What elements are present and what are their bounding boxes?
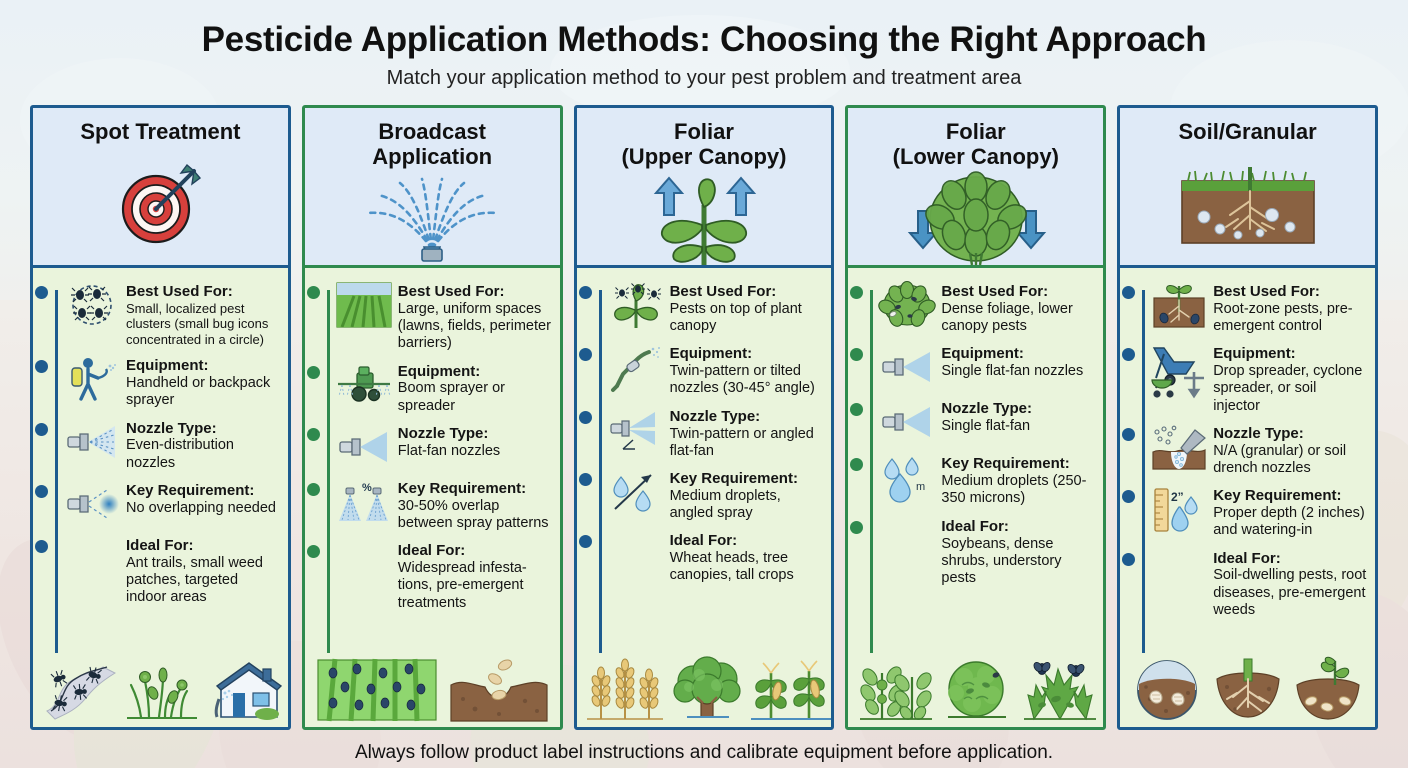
detail-label: Nozzle Type: xyxy=(398,425,552,443)
detail-label: Equipment: xyxy=(941,345,1095,363)
method-cards-row: Spot Treatment Best Used For:Small, loca… xyxy=(30,105,1378,730)
detail-value: Single flat-fan xyxy=(941,418,1095,435)
detail-value: Twin-pattern or tilted nozzles (30-45° a… xyxy=(670,363,824,398)
card-body: Best Used For:Dense foliage, lower canop… xyxy=(848,268,1103,727)
detail-text: Nozzle Type:Twin-pattern or angled flat-… xyxy=(670,407,824,460)
card-bottom-illustrations xyxy=(41,651,280,721)
card-title: Foliar (Upper Canopy) xyxy=(615,120,792,169)
detail-rows: Best Used For:Small, localized pest clus… xyxy=(41,282,280,616)
detail-text: Nozzle Type:Single flat-fan xyxy=(941,399,1095,435)
detail-text: Ideal For:Wheat heads, tree canopies, ta… xyxy=(670,531,824,584)
detail-rows: Best Used For:Pests on top of plant cano… xyxy=(585,282,824,594)
house-spray-icon xyxy=(203,659,283,721)
card-header: Foliar (Upper Canopy) xyxy=(577,108,832,268)
detail-value: N/A (granular) or soil drench nozzles xyxy=(1213,443,1367,478)
detail-value: Handheld or backpack sprayer xyxy=(126,375,280,410)
sprinkler-fan-spray-icon xyxy=(305,169,560,265)
detail-text: Key Requirement:Proper depth (2 inches) … xyxy=(1213,486,1367,539)
detail-text: Best Used For:Large, uniform spaces (law… xyxy=(398,282,552,353)
detail-value: Soybeans, dense shrubs, understory pests xyxy=(941,536,1095,588)
detail-label: Ideal For: xyxy=(941,518,1095,536)
timeline-dot xyxy=(35,540,48,553)
page-header: Pesticide Application Methods: Choosing … xyxy=(0,0,1408,100)
boom-sprayer-tractor-icon xyxy=(335,362,393,408)
detail-value: Soil-dwelling pests, root diseases, pre-… xyxy=(1213,567,1367,619)
detail-value: Twin-pattern or angled flat-fan xyxy=(670,426,824,461)
timeline-dot xyxy=(1122,490,1135,503)
ruler-two-inch-droplet-icon: 2” xyxy=(1150,486,1208,532)
detail-text: Equipment:Drop spreader, cyclone spreade… xyxy=(1213,344,1367,415)
svg-text:m: m xyxy=(916,481,925,493)
grub-in-soil-icon xyxy=(1132,659,1202,721)
card-header: Broadcast Application xyxy=(305,108,560,268)
card-header: Spot Treatment xyxy=(33,108,288,268)
root-disease-icon xyxy=(1213,659,1283,721)
detail-row: Equipment:Boom sprayer or spreader xyxy=(313,362,552,415)
detail-rows: Best Used For:Root-zone pests, pre-emerg… xyxy=(1128,282,1367,628)
card-bottom-illustrations xyxy=(585,651,824,721)
detail-text: Key Requirement:30-50% overlap between s… xyxy=(398,479,552,532)
detail-row: m Key Requirement:Medium droplets (250-3… xyxy=(856,454,1095,507)
detail-label: Ideal For: xyxy=(1213,550,1367,568)
seed-germination-icon xyxy=(1293,659,1363,721)
detail-row: Best Used For:Dense foliage, lower canop… xyxy=(856,282,1095,335)
bug-cluster-circle-icon xyxy=(63,282,121,328)
detail-row: Nozzle Type:Flat-fan nozzles xyxy=(313,424,552,470)
detail-value: Wheat heads, tree canopies, tall crops xyxy=(670,550,824,585)
no-icon-placeholder xyxy=(63,536,121,582)
detail-value: Large, uniform spaces (lawns, fields, pe… xyxy=(398,301,552,353)
detail-value: Medium droplets, angled spray xyxy=(670,488,824,523)
detail-text: Equipment:Boom sprayer or spreader xyxy=(398,362,552,415)
soil-cross-section-roots-icon xyxy=(1120,145,1375,265)
spray-wand-icon xyxy=(607,344,665,390)
card-bottom-illustrations xyxy=(313,651,552,721)
svg-text:2”: 2” xyxy=(1171,490,1184,504)
timeline-dot xyxy=(850,348,863,361)
detail-value: Boom sprayer or spreader xyxy=(398,380,552,415)
method-card-broadcast-application: Broadcast Application Best Used For:Larg… xyxy=(302,105,563,730)
method-card-foliar-upper-canopy: Foliar (Upper Canopy) Best Used For:Pest… xyxy=(574,105,835,730)
timeline-dot xyxy=(850,286,863,299)
timeline-dot xyxy=(35,286,48,299)
detail-row: Nozzle Type:Even-distribution nozzles xyxy=(41,419,280,472)
flat-fan-nozzle-icon xyxy=(878,399,936,445)
detail-row: Best Used For:Root-zone pests, pre-emerg… xyxy=(1128,282,1367,335)
detail-text: Ideal For:Soil-dwelling pests, root dise… xyxy=(1213,549,1367,620)
svg-text:%: % xyxy=(362,482,372,494)
detail-row: Nozzle Type:Twin-pattern or angled flat-… xyxy=(585,407,824,460)
detail-row: 2” Key Requirement:Proper depth (2 inche… xyxy=(1128,486,1367,539)
no-icon-placeholder xyxy=(335,541,393,587)
detail-row: Equipment:Single flat-fan nozzles xyxy=(856,344,1095,390)
detail-row: Nozzle Type:N/A (granular) or soil drenc… xyxy=(1128,424,1367,477)
detail-label: Ideal For: xyxy=(398,542,552,560)
medium-droplets-micron-icon: m xyxy=(878,454,936,500)
timeline-dot xyxy=(307,545,320,558)
flat-fan-nozzle-icon xyxy=(335,424,393,470)
card-header: Foliar (Lower Canopy) xyxy=(848,108,1103,268)
detail-label: Key Requirement: xyxy=(1213,487,1367,505)
no-icon-placeholder xyxy=(607,531,665,577)
timeline-dot xyxy=(850,458,863,471)
detail-row: Equipment:Drop spreader, cyclone spreade… xyxy=(1128,344,1367,415)
footer-note: Always follow product label instructions… xyxy=(0,742,1408,764)
detail-label: Key Requirement: xyxy=(398,480,552,498)
card-body: Best Used For:Pests on top of plant cano… xyxy=(577,268,832,727)
timeline-dot xyxy=(35,423,48,436)
detail-value: 30-50% overlap between spray patterns xyxy=(398,498,552,533)
card-body: Best Used For:Small, localized pest clus… xyxy=(33,268,288,727)
ant-trail-icon xyxy=(41,659,121,721)
detail-label: Nozzle Type: xyxy=(1213,425,1367,443)
detail-label: Key Requirement: xyxy=(126,482,280,500)
detail-label: Nozzle Type: xyxy=(670,408,824,426)
green-field-rows-icon xyxy=(335,282,393,328)
detail-text: Nozzle Type:Even-distribution nozzles xyxy=(126,419,280,472)
method-card-foliar-lower-canopy: Foliar (Lower Canopy) xyxy=(845,105,1106,730)
detail-text: Nozzle Type:Flat-fan nozzles xyxy=(398,424,552,460)
card-title: Spot Treatment xyxy=(74,120,246,145)
timeline-dot xyxy=(1122,286,1135,299)
spreader-injector-icon xyxy=(1150,344,1208,390)
detail-row: Ideal For:Ant trails, small weed patches… xyxy=(41,536,280,607)
timeline-dot xyxy=(579,535,592,548)
detail-label: Best Used For: xyxy=(1213,283,1367,301)
detail-value: Ant trails, small weed patches, targeted… xyxy=(126,555,280,607)
detail-label: Equipment: xyxy=(398,363,552,381)
no-icon-placeholder xyxy=(1150,549,1208,595)
detail-row: Equipment:Twin-pattern or tilted nozzles… xyxy=(585,344,824,397)
timeline-dot xyxy=(1122,348,1135,361)
target-with-arrow-icon xyxy=(33,145,288,265)
detail-row: Nozzle Type:Single flat-fan xyxy=(856,399,1095,445)
detail-label: Key Requirement: xyxy=(941,455,1095,473)
timeline-dot xyxy=(579,473,592,486)
detail-row: Ideal For:Widespread infesta-tions, pre-… xyxy=(313,541,552,612)
timeline-dot xyxy=(579,411,592,424)
detail-text: Key Requirement:Medium droplets, angled … xyxy=(670,469,824,522)
even-spray-nozzle-icon xyxy=(63,419,121,465)
detail-value: Single flat-fan nozzles xyxy=(941,363,1095,380)
detail-label: Ideal For: xyxy=(126,537,280,555)
weed-patch-icon xyxy=(125,659,199,721)
timeline-dot xyxy=(850,521,863,534)
detail-value: Flat-fan nozzles xyxy=(398,443,552,460)
detail-text: Best Used For:Pests on top of plant cano… xyxy=(670,282,824,335)
detail-row: % Key Requirement:30-50% overlap between… xyxy=(313,479,552,532)
droplets-angle-arrow-icon xyxy=(607,469,665,515)
detail-label: Equipment: xyxy=(670,345,824,363)
detail-label: Best Used For: xyxy=(398,283,552,301)
timeline-dot xyxy=(1122,428,1135,441)
detail-row: Ideal For:Wheat heads, tree canopies, ta… xyxy=(585,531,824,584)
detail-row: Ideal For:Soybeans, dense shrubs, unders… xyxy=(856,517,1095,588)
detail-text: Equipment:Handheld or backpack sprayer xyxy=(126,356,280,409)
detail-text: Equipment:Twin-pattern or tilted nozzles… xyxy=(670,344,824,397)
detail-text: Best Used For:Root-zone pests, pre-emerg… xyxy=(1213,282,1367,335)
timeline-dot xyxy=(307,366,320,379)
detail-text: Key Requirement:Medium droplets (250-350… xyxy=(941,454,1095,507)
timeline-dot xyxy=(35,485,48,498)
detail-value: No overlapping needed xyxy=(126,500,280,517)
bush-down-arrows-icon xyxy=(848,169,1103,265)
single-spot-nozzle-icon xyxy=(63,481,121,527)
granule-drench-icon xyxy=(1150,424,1208,470)
wheat-heads-icon xyxy=(585,659,665,721)
detail-text: Ideal For:Soybeans, dense shrubs, unders… xyxy=(941,517,1095,588)
detail-value: Medium droplets (250-350 microns) xyxy=(941,473,1095,508)
method-card-spot-treatment: Spot Treatment Best Used For:Small, loca… xyxy=(30,105,291,730)
timeline-dot xyxy=(1122,553,1135,566)
detail-row: Equipment:Handheld or backpack sprayer xyxy=(41,356,280,409)
detail-text: Best Used For:Small, localized pest clus… xyxy=(126,282,280,347)
detail-text: Ideal For:Widespread infesta-tions, pre-… xyxy=(398,541,552,612)
card-body: Best Used For:Root-zone pests, pre-emerg… xyxy=(1120,268,1375,727)
plant-up-arrows-icon xyxy=(577,169,832,265)
detail-value: Root-zone pests, pre-emergent control xyxy=(1213,301,1367,336)
page-title: Pesticide Application Methods: Choosing … xyxy=(202,20,1207,60)
detail-row: Ideal For:Soil-dwelling pests, root dise… xyxy=(1128,549,1367,620)
no-icon-placeholder xyxy=(878,517,936,563)
timeline-dot xyxy=(579,286,592,299)
timeline-dot xyxy=(307,428,320,441)
card-bottom-illustrations xyxy=(1128,651,1367,721)
detail-label: Nozzle Type: xyxy=(126,420,280,438)
infested-field-icon xyxy=(317,659,437,721)
detail-label: Equipment: xyxy=(126,357,280,375)
understory-pests-icon xyxy=(1020,659,1100,721)
detail-label: Best Used For: xyxy=(670,283,824,301)
overlapping-spray-percent-icon: % xyxy=(335,479,393,525)
timeline-dot xyxy=(307,286,320,299)
detail-text: Ideal For:Ant trails, small weed patches… xyxy=(126,536,280,607)
detail-row: Best Used For:Large, uniform spaces (law… xyxy=(313,282,552,353)
detail-value: Even-distribution nozzles xyxy=(126,437,280,472)
detail-row: Key Requirement:No overlapping needed xyxy=(41,481,280,527)
detail-row: Best Used For:Pests on top of plant cano… xyxy=(585,282,824,335)
detail-value: Pests on top of plant canopy xyxy=(670,301,824,336)
timeline-dot xyxy=(307,483,320,496)
timeline-dot xyxy=(579,348,592,361)
detail-rows: Best Used For:Large, uniform spaces (law… xyxy=(313,282,552,621)
detail-row: Best Used For:Small, localized pest clus… xyxy=(41,282,280,347)
backpack-sprayer-person-icon xyxy=(63,356,121,402)
detail-text: Best Used For:Dense foliage, lower canop… xyxy=(941,282,1095,335)
round-shrub-icon xyxy=(940,659,1016,721)
detail-value: Proper depth (2 inches) and watering-in xyxy=(1213,505,1367,540)
pests-on-leaves-icon xyxy=(607,282,665,328)
card-title: Foliar (Lower Canopy) xyxy=(887,120,1065,169)
twin-pattern-nozzle-icon xyxy=(607,407,665,453)
detail-value: Drop spreader, cyclone spreader, or soil… xyxy=(1213,363,1367,415)
card-header: Soil/Granular xyxy=(1120,108,1375,268)
detail-label: Nozzle Type: xyxy=(941,400,1095,418)
page-subtitle: Match your application method to your pe… xyxy=(387,67,1022,90)
detail-label: Best Used For: xyxy=(126,283,280,301)
card-bottom-illustrations xyxy=(856,651,1095,721)
corn-crop-icon xyxy=(749,659,833,721)
timeline-dot xyxy=(35,360,48,373)
detail-value: Widespread infesta-tions, pre-emergent t… xyxy=(398,560,552,612)
seed-in-soil-icon xyxy=(451,659,547,721)
detail-text: Nozzle Type:N/A (granular) or soil drenc… xyxy=(1213,424,1367,477)
detail-value: Dense foliage, lower canopy pests xyxy=(941,301,1095,336)
detail-row: Key Requirement:Medium droplets, angled … xyxy=(585,469,824,522)
detail-text: Key Requirement:No overlapping needed xyxy=(126,481,280,517)
detail-label: Equipment: xyxy=(1213,345,1367,363)
detail-rows: Best Used For:Dense foliage, lower canop… xyxy=(856,282,1095,596)
detail-text: Equipment:Single flat-fan nozzles xyxy=(941,344,1095,380)
soybean-plant-icon xyxy=(856,659,936,721)
timeline-dot xyxy=(850,403,863,416)
method-card-soil-granular: Soil/Granular Best Used For:Root-zone pe… xyxy=(1117,105,1378,730)
detail-label: Ideal For: xyxy=(670,532,824,550)
detail-label: Best Used For: xyxy=(941,283,1095,301)
detail-value: Small, localized pest clusters (small bu… xyxy=(126,301,280,347)
detail-label: Key Requirement: xyxy=(670,470,824,488)
card-title: Soil/Granular xyxy=(1173,120,1323,145)
seedling-root-pests-icon xyxy=(1150,282,1208,328)
card-title: Broadcast Application xyxy=(366,120,498,169)
dense-bush-pests-icon xyxy=(878,282,936,328)
tree-canopy-icon xyxy=(669,659,745,721)
flat-fan-nozzle-icon xyxy=(878,344,936,390)
card-body: Best Used For:Large, uniform spaces (law… xyxy=(305,268,560,727)
